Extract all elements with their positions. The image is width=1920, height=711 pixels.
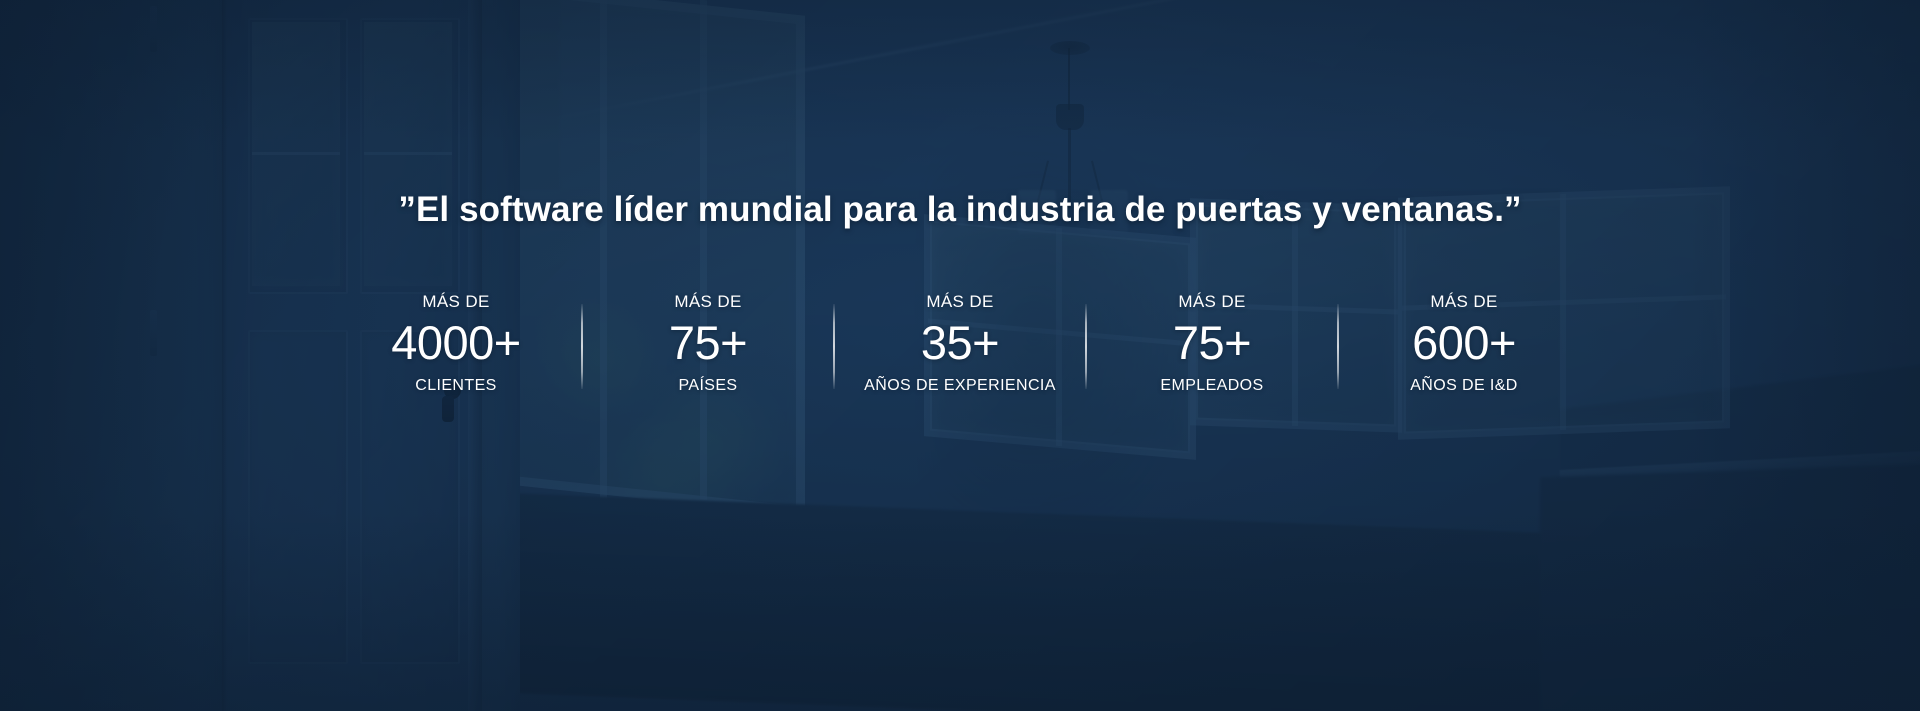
hero-content: ”El software líder mundial para la indus…	[0, 0, 1920, 711]
stat-label: AÑOS DE I&D	[1410, 377, 1518, 395]
stat-value: 4000+	[391, 318, 521, 369]
stats-row: MÁS DE 4000+ CLIENTES MÁS DE 75+ PAÍSES …	[331, 292, 1589, 395]
stat-block-paises: MÁS DE 75+ PAÍSES	[583, 292, 833, 395]
hero-headline: ”El software líder mundial para la indus…	[398, 190, 1521, 230]
stat-prefix: MÁS DE	[1430, 292, 1497, 312]
stat-value: 75+	[1173, 318, 1251, 369]
stat-prefix: MÁS DE	[926, 292, 993, 312]
stat-label: AÑOS DE EXPERIENCIA	[864, 377, 1056, 395]
stat-value: 35+	[921, 318, 999, 369]
stat-value: 75+	[669, 318, 747, 369]
stat-block-anos-de-iyd: MÁS DE 600+ AÑOS DE I&D	[1339, 292, 1589, 395]
stat-label: PAÍSES	[678, 377, 737, 395]
stat-block-anos-de-experiencia: MÁS DE 35+ AÑOS DE EXPERIENCIA	[835, 292, 1085, 395]
stat-prefix: MÁS DE	[674, 292, 741, 312]
stat-prefix: MÁS DE	[1178, 292, 1245, 312]
stat-block-empleados: MÁS DE 75+ EMPLEADOS	[1087, 292, 1337, 395]
stat-value: 600+	[1412, 318, 1516, 369]
stat-block-clientes: MÁS DE 4000+ CLIENTES	[331, 292, 581, 395]
stat-prefix: MÁS DE	[422, 292, 489, 312]
stat-label: CLIENTES	[415, 377, 496, 395]
stat-label: EMPLEADOS	[1160, 377, 1263, 395]
hero-banner: ”El software líder mundial para la indus…	[0, 0, 1920, 711]
